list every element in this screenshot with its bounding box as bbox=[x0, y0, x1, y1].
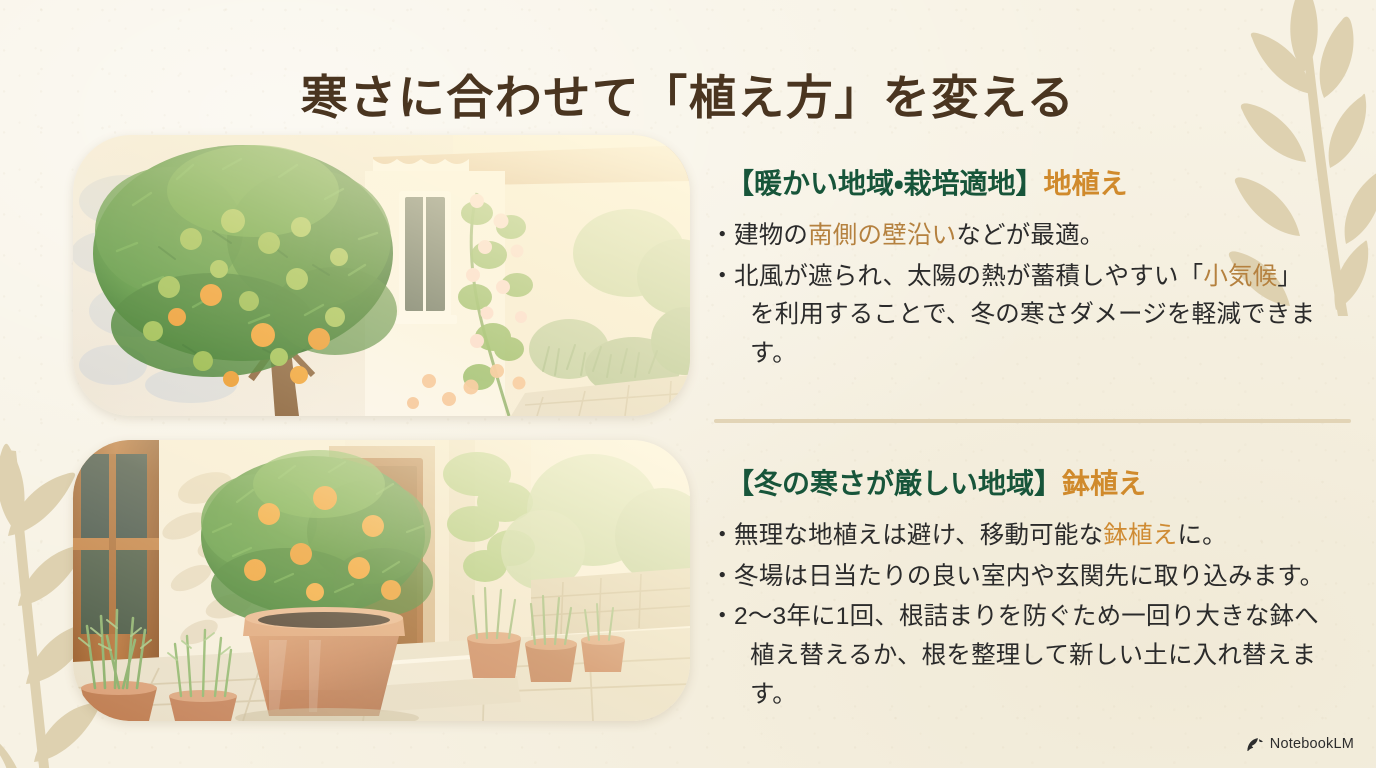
bullet-text-part: 」 bbox=[1277, 263, 1302, 290]
bullet-text-highlight: 小気候 bbox=[1203, 263, 1277, 290]
content-column: 【暖かい地域・栽培適地】地植え 建物の南側の壁沿いなどが最適。 北風が遮られ、太… bbox=[712, 0, 1360, 768]
section-warm-region: 【暖かい地域・栽培適地】地植え 建物の南側の壁沿いなどが最適。 北風が遮られ、太… bbox=[712, 166, 1360, 376]
list-item: 無理な地植えは避け、移動可能な鉢植えに。 bbox=[712, 517, 1360, 556]
slide-canvas: 寒さに合わせて「植え方」を変える bbox=[0, 0, 1376, 768]
bullet-text-part: 建物の bbox=[734, 222, 808, 249]
notebooklm-logo-icon bbox=[1246, 737, 1263, 752]
bullet-text-part: 無理な地植えは避け、移動可能な bbox=[734, 522, 1103, 549]
section-cold-region: 【冬の寒さが厳しい地域】鉢植え 無理な地植えは避け、移動可能な鉢植えに。 冬場は… bbox=[712, 466, 1360, 717]
bullet-text-part: に。 bbox=[1177, 522, 1226, 549]
notebooklm-watermark: NotebookLM bbox=[1246, 736, 1354, 752]
section-warm-heading-bracket: 【暖かい地域・栽培適地】 bbox=[726, 168, 1044, 199]
section-cold-heading: 【冬の寒さが厳しい地域】鉢植え bbox=[726, 466, 1360, 501]
notebooklm-brand-label: NotebookLM bbox=[1270, 736, 1354, 752]
list-item: 冬場は日当たりの良い室内や玄関先に取り込みます。 bbox=[712, 558, 1360, 597]
list-item: 2〜3年に1回、根詰まりを防ぐため一回り大きな鉢へ 植え替えるか、根を整理して新… bbox=[712, 598, 1360, 714]
photo-in-ground-citrus bbox=[73, 135, 690, 416]
section-warm-heading: 【暖かい地域・栽培適地】地植え bbox=[726, 166, 1360, 201]
bullet-text-part: などが最適。 bbox=[956, 222, 1104, 249]
bullet-text-part: 冬場は日当たりの良い室内や玄関先に取り込みます。 bbox=[734, 563, 1324, 590]
photo-potted-citrus bbox=[73, 440, 690, 721]
section-cold-heading-accent: 鉢植え bbox=[1062, 468, 1146, 499]
bullet-text-continuation: を利用することで、冬の寒さダメージを軽減できます。 bbox=[734, 296, 1360, 373]
section-warm-heading-accent: 地植え bbox=[1044, 168, 1128, 199]
bullet-text-continuation: 植え替えるか、根を整理して新しい土に入れ替えます。 bbox=[734, 637, 1360, 714]
section-cold-heading-bracket: 【冬の寒さが厳しい地域】 bbox=[726, 468, 1062, 499]
bullet-text-part: 2〜3年に1回、根詰まりを防ぐため一回り大きな鉢へ bbox=[734, 603, 1319, 630]
bullet-text-highlight: 鉢植え bbox=[1103, 522, 1177, 549]
bullet-text-part: 北風が遮られ、太陽の熱が蓄積しやすい「 bbox=[734, 263, 1203, 290]
bullet-text-highlight: 南側の壁沿い bbox=[808, 222, 956, 249]
section-warm-bullet-list: 建物の南側の壁沿いなどが最適。 北風が遮られ、太陽の熱が蓄積しやすい「小気候」 … bbox=[712, 217, 1360, 374]
list-item: 建物の南側の壁沿いなどが最適。 bbox=[712, 217, 1360, 256]
list-item: 北風が遮られ、太陽の熱が蓄積しやすい「小気候」 を利用することで、冬の寒さダメー… bbox=[712, 258, 1360, 374]
section-cold-bullet-list: 無理な地植えは避け、移動可能な鉢植えに。 冬場は日当たりの良い室内や玄関先に取り… bbox=[712, 517, 1360, 715]
